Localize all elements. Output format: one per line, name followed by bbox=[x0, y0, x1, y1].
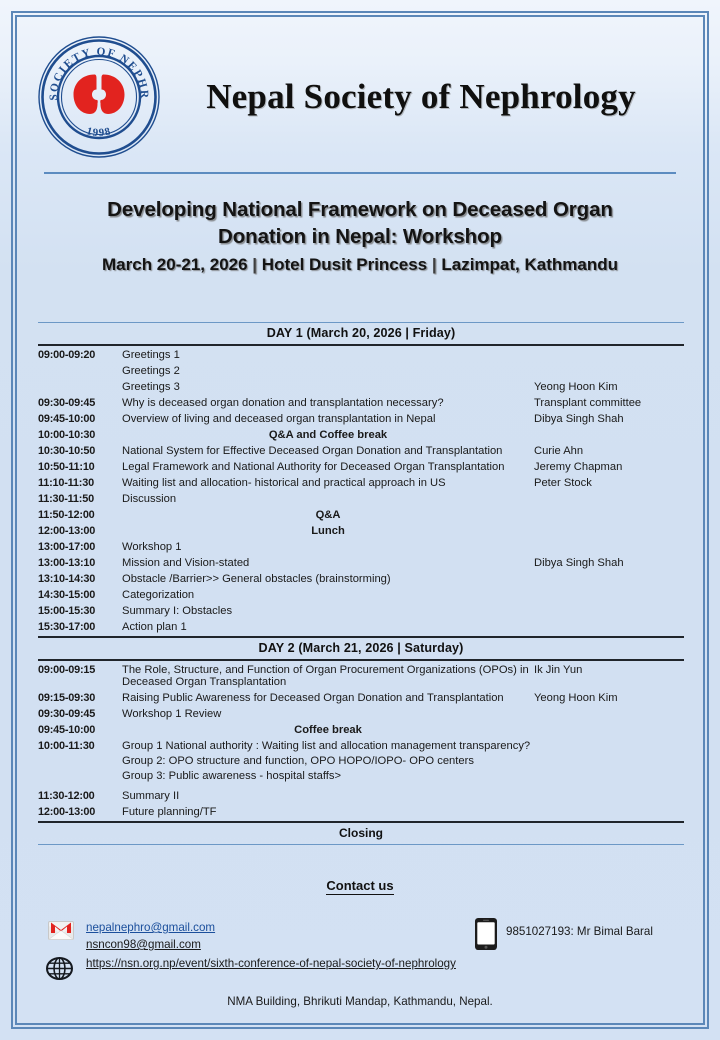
row-time: 12:00-13:00 bbox=[38, 524, 122, 537]
row-time: 09:30-09:45 bbox=[38, 707, 122, 720]
table-row: 12:00-13:00 Future planning/TF bbox=[38, 803, 684, 819]
email-link-primary[interactable]: nepalnephro@gmail.com bbox=[86, 921, 215, 934]
row-topic: Why is deceased organ donation and trans… bbox=[122, 396, 534, 409]
row-topic: Overview of living and deceased organ tr… bbox=[122, 412, 534, 425]
table-row: 11:10-11:30 Waiting list and allocation-… bbox=[38, 474, 684, 490]
row-topic: Greetings 2 bbox=[122, 364, 534, 377]
table-row: 12:00-13:00 Lunch bbox=[38, 522, 684, 538]
table-row: 10:00-10:30 Q&A and Coffee break bbox=[38, 426, 684, 442]
row-topic: Mission and Vision-stated bbox=[122, 556, 534, 569]
poster-header: NEPAL SOCIETY OF NEPHROLOGY 1998 Nepal S bbox=[22, 24, 698, 170]
row-topic: The Role, Structure, and Function of Org… bbox=[122, 663, 534, 688]
row-speaker bbox=[534, 604, 684, 605]
row-topic: Workshop 1 bbox=[122, 540, 534, 553]
row-speaker bbox=[534, 620, 684, 621]
row-time: 09:00-09:15 bbox=[38, 663, 122, 676]
table-row: 09:00-09:20 Greetings 1 bbox=[38, 346, 684, 362]
row-speaker bbox=[534, 739, 684, 740]
row-topic-line1: The Role, Structure, and Function of Org… bbox=[122, 664, 534, 676]
row-speaker bbox=[534, 508, 684, 509]
event-title-block: Developing National Framework on Decease… bbox=[36, 196, 684, 275]
row-topic: Greetings 3 bbox=[122, 380, 534, 393]
table-row: 09:00-09:15 The Role, Structure, and Fun… bbox=[38, 661, 684, 689]
row-speaker bbox=[534, 524, 684, 525]
row-speaker bbox=[534, 707, 684, 708]
event-venue: Hotel Dusit Princess bbox=[262, 255, 427, 274]
row-topic: Greetings 1 bbox=[122, 348, 534, 361]
row-time: 11:50-12:00 bbox=[38, 508, 122, 521]
row-speaker bbox=[534, 364, 684, 365]
row-time: 09:45-10:00 bbox=[38, 723, 122, 736]
event-meta-sep-1: | bbox=[252, 255, 257, 274]
row-time: 12:00-13:00 bbox=[38, 805, 122, 818]
row-speaker: Yeong Hoon Kim bbox=[534, 380, 684, 393]
row-speaker: Dibya Singh Shah bbox=[534, 412, 684, 425]
event-title-line1: Developing National Framework on Decease… bbox=[36, 196, 684, 223]
row-time: 15:00-15:30 bbox=[38, 604, 122, 617]
event-meta-sep-2: | bbox=[432, 255, 437, 274]
row-speaker: Ik Jin Yun bbox=[534, 663, 684, 676]
table-row: 14:30-15:00 Categorization bbox=[38, 586, 684, 602]
table-row: 09:15-09:30 Raising Public Awareness for… bbox=[38, 689, 684, 705]
row-topic: Group 1 National authority : Waiting lis… bbox=[122, 739, 534, 782]
row-time: 11:30-12:00 bbox=[38, 789, 122, 802]
contact-address: NMA Building, Bhrikuti Mandap, Kathmandu… bbox=[0, 995, 720, 1008]
row-time: 10:30-10:50 bbox=[38, 444, 122, 457]
row-topic: Future planning/TF bbox=[122, 805, 534, 818]
table-row: 09:45-10:00 Overview of living and decea… bbox=[38, 410, 684, 426]
table-row: 13:00-13:10 Mission and Vision-stated Di… bbox=[38, 554, 684, 570]
row-time: 09:45-10:00 bbox=[38, 412, 122, 425]
poster: NEPAL SOCIETY OF NEPHROLOGY 1998 Nepal S bbox=[0, 0, 720, 1040]
row-time: 13:10-14:30 bbox=[38, 572, 122, 585]
row-topic: Q&A bbox=[122, 508, 534, 521]
row-speaker bbox=[534, 723, 684, 724]
table-row: 10:00-11:30 Group 1 National authority :… bbox=[38, 737, 684, 783]
closing-row: Closing bbox=[38, 821, 684, 845]
row-time bbox=[38, 380, 122, 381]
table-row: 11:50-12:00 Q&A bbox=[38, 506, 684, 522]
row-speaker bbox=[534, 588, 684, 589]
row-topic: Coffee break bbox=[122, 723, 534, 736]
row-topic: National System for Effective Deceased O… bbox=[122, 444, 534, 457]
row-time: 13:00-17:00 bbox=[38, 540, 122, 553]
table-row: 15:00-15:30 Summary I: Obstacles bbox=[38, 602, 684, 618]
row-topic-line2: Deceased Organ Transplantation bbox=[122, 676, 534, 688]
mobile-phone-icon bbox=[474, 917, 498, 951]
table-row: 11:30-12:00 Summary II bbox=[38, 787, 684, 803]
row-topic-line2: Group 2: OPO structure and function, OPO… bbox=[122, 755, 534, 770]
row-speaker bbox=[534, 805, 684, 806]
organization-title: Nepal Society of Nephrology bbox=[162, 77, 698, 117]
row-topic: Discussion bbox=[122, 492, 534, 505]
day2-header: DAY 2 (March 21, 2026 | Saturday) bbox=[38, 636, 684, 661]
table-row: 09:30-09:45 Workshop 1 Review bbox=[38, 705, 684, 721]
row-topic: Obstacle /Barrier>> General obstacles (b… bbox=[122, 572, 534, 585]
website-link[interactable]: https://nsn.org.np/event/sixth-conferenc… bbox=[86, 957, 456, 970]
day2-rows: 09:00-09:15 The Role, Structure, and Fun… bbox=[38, 661, 684, 819]
globe-icon bbox=[46, 955, 73, 982]
contact-heading: Contact us bbox=[0, 878, 720, 893]
row-time bbox=[38, 364, 122, 365]
row-time: 10:00-11:30 bbox=[38, 739, 122, 752]
row-speaker bbox=[534, 348, 684, 349]
day1-header: DAY 1 (March 20, 2026 | Friday) bbox=[38, 323, 684, 346]
row-speaker: Curie Ahn bbox=[534, 444, 684, 457]
row-topic: Legal Framework and National Authority f… bbox=[122, 460, 534, 473]
event-meta: March 20-21, 2026 | Hotel Dusit Princess… bbox=[36, 255, 684, 275]
table-row: 09:30-09:45 Why is deceased organ donati… bbox=[38, 394, 684, 410]
row-topic: Lunch bbox=[122, 524, 534, 537]
row-speaker bbox=[534, 789, 684, 790]
email-link-secondary[interactable]: nsncon98@gmail.com bbox=[86, 938, 201, 951]
row-time: 14:30-15:00 bbox=[38, 588, 122, 601]
row-topic: Q&A and Coffee break bbox=[122, 428, 534, 441]
table-row: 10:50-11:10 Legal Framework and National… bbox=[38, 458, 684, 474]
row-time: 09:00-09:20 bbox=[38, 348, 122, 361]
row-topic: Waiting list and allocation- historical … bbox=[122, 476, 534, 489]
row-time: 09:15-09:30 bbox=[38, 691, 122, 704]
table-row: 13:10-14:30 Obstacle /Barrier>> General … bbox=[38, 570, 684, 586]
event-date: March 20-21, 2026 bbox=[102, 255, 248, 274]
table-row: 11:30-11:50 Discussion bbox=[38, 490, 684, 506]
gmail-envelope-icon bbox=[48, 921, 74, 940]
row-topic: Action plan 1 bbox=[122, 620, 534, 633]
table-row: 15:30-17:00 Action plan 1 bbox=[38, 618, 684, 634]
row-speaker: Yeong Hoon Kim bbox=[534, 691, 684, 704]
row-topic-line3: Group 3: Public awareness - hospital sta… bbox=[122, 770, 534, 782]
schedule-table: DAY 1 (March 20, 2026 | Friday) 09:00-09… bbox=[38, 322, 684, 845]
row-time: 13:00-13:10 bbox=[38, 556, 122, 569]
event-title-line2: Donation in Nepal: Workshop bbox=[36, 223, 684, 250]
row-speaker: Transplant committee bbox=[534, 396, 684, 409]
row-speaker: Peter Stock bbox=[534, 476, 684, 489]
row-topic-line1: Group 1 National authority : Waiting lis… bbox=[122, 740, 534, 755]
row-time: 11:10-11:30 bbox=[38, 476, 122, 489]
row-topic: Summary II bbox=[122, 789, 534, 802]
contact-phone: 9851027193: Mr Bimal Baral bbox=[506, 925, 653, 938]
nsn-logo: NEPAL SOCIETY OF NEPHROLOGY 1998 bbox=[36, 34, 162, 160]
table-row: 10:30-10:50 National System for Effectiv… bbox=[38, 442, 684, 458]
table-row: 09:45-10:00 Coffee break bbox=[38, 721, 684, 737]
row-speaker: Jeremy Chapman bbox=[534, 460, 684, 473]
table-row: Greetings 3 Yeong Hoon Kim bbox=[38, 378, 684, 394]
header-divider bbox=[44, 172, 676, 174]
row-speaker bbox=[534, 572, 684, 573]
row-speaker bbox=[534, 492, 684, 493]
row-time: 10:00-10:30 bbox=[38, 428, 122, 441]
row-speaker bbox=[534, 540, 684, 541]
day1-rows: 09:00-09:20 Greetings 1 Greetings 2 Gree… bbox=[38, 346, 684, 634]
row-topic: Categorization bbox=[122, 588, 534, 601]
row-speaker bbox=[534, 428, 684, 429]
row-topic: Workshop 1 Review bbox=[122, 707, 534, 720]
row-topic: Raising Public Awareness for Deceased Or… bbox=[122, 691, 534, 704]
table-row: 13:00-17:00 Workshop 1 bbox=[38, 538, 684, 554]
event-location: Lazimpat, Kathmandu bbox=[441, 255, 618, 274]
row-time: 15:30-17:00 bbox=[38, 620, 122, 633]
row-time: 10:50-11:10 bbox=[38, 460, 122, 473]
table-row: Greetings 2 bbox=[38, 362, 684, 378]
row-speaker: Dibya Singh Shah bbox=[534, 556, 684, 569]
row-time: 09:30-09:45 bbox=[38, 396, 122, 409]
row-topic: Summary I: Obstacles bbox=[122, 604, 534, 617]
row-time: 11:30-11:50 bbox=[38, 492, 122, 505]
